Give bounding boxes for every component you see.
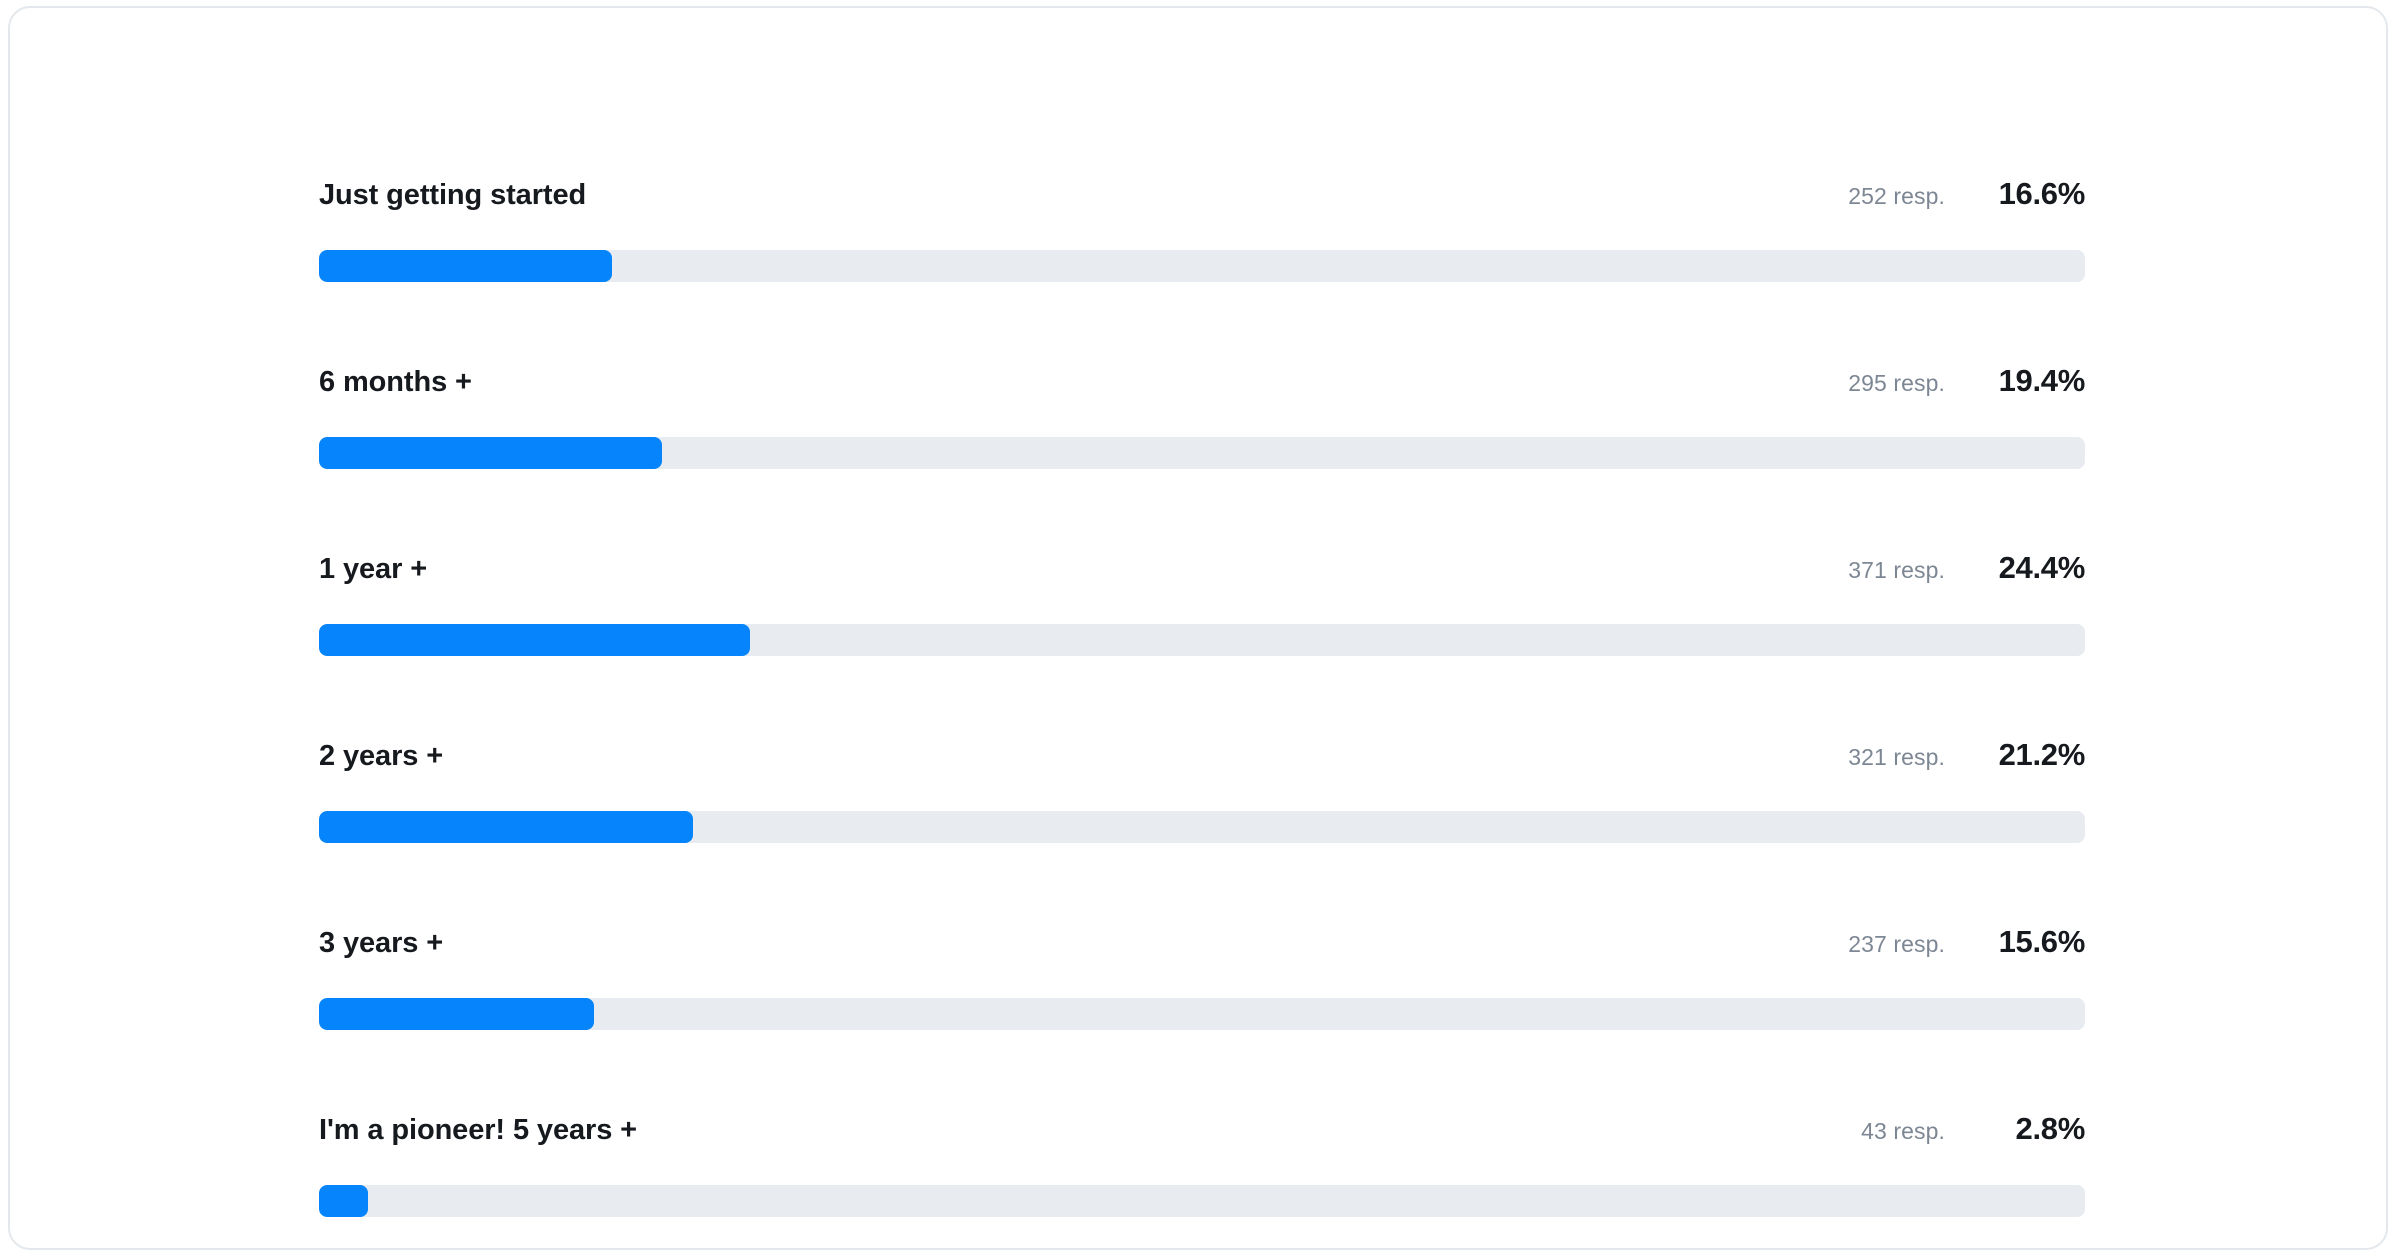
bar-row-percent: 15.6% — [1967, 924, 2085, 960]
bar-track — [319, 437, 2085, 469]
bar-row-responses: 321 resp. — [1848, 744, 1945, 771]
bar-row: 3 years + 237 resp. 15.6% — [319, 924, 2085, 1030]
bar-row-header: 2 years + 321 resp. 21.2% — [319, 737, 2085, 781]
bar-row-label: 6 months + — [319, 366, 472, 399]
bar-row-responses: 237 resp. — [1848, 931, 1945, 958]
bar-row-percent: 21.2% — [1967, 737, 2085, 773]
bar-fill — [319, 1185, 368, 1217]
bar-track — [319, 250, 2085, 282]
bar-track — [319, 1185, 2085, 1217]
bar-fill — [319, 998, 594, 1030]
bar-row-responses: 295 resp. — [1848, 370, 1945, 397]
bar-track — [319, 811, 2085, 843]
bar-row-stats: 237 resp. 15.6% — [1848, 924, 2085, 960]
bar-row-label: 3 years + — [319, 927, 443, 960]
bar-row: 2 years + 321 resp. 21.2% — [319, 737, 2085, 843]
bar-row: I'm a pioneer! 5 years + 43 resp. 2.8% — [319, 1111, 2085, 1217]
bar-row-header: 3 years + 237 resp. 15.6% — [319, 924, 2085, 968]
screenshot-canvas: Just getting started 252 resp. 16.6% 6 m… — [0, 0, 2400, 1256]
bar-row-label: 1 year + — [319, 553, 427, 586]
bar-row-percent: 16.6% — [1967, 176, 2085, 212]
bar-row-stats: 295 resp. 19.4% — [1848, 363, 2085, 399]
bar-row-percent: 24.4% — [1967, 550, 2085, 586]
bar-row-responses: 43 resp. — [1861, 1118, 1945, 1145]
bar-fill — [319, 811, 693, 843]
bar-row-responses: 371 resp. — [1848, 557, 1945, 584]
bar-row-stats: 321 resp. 21.2% — [1848, 737, 2085, 773]
bar-row: 6 months + 295 resp. 19.4% — [319, 363, 2085, 469]
bar-row-label: Just getting started — [319, 179, 586, 212]
bar-row-responses: 252 resp. — [1848, 183, 1945, 210]
bar-track — [319, 998, 2085, 1030]
bar-row-header: 1 year + 371 resp. 24.4% — [319, 550, 2085, 594]
horizontal-bar-chart: Just getting started 252 resp. 16.6% 6 m… — [319, 176, 2085, 1217]
bar-row: Just getting started 252 resp. 16.6% — [319, 176, 2085, 282]
bar-row-percent: 19.4% — [1967, 363, 2085, 399]
bar-row-stats: 252 resp. 16.6% — [1848, 176, 2085, 212]
bar-row-label: I'm a pioneer! 5 years + — [319, 1114, 637, 1147]
bar-row: 1 year + 371 resp. 24.4% — [319, 550, 2085, 656]
bar-row-label: 2 years + — [319, 740, 443, 773]
bar-row-header: 6 months + 295 resp. 19.4% — [319, 363, 2085, 407]
bar-row-percent: 2.8% — [1967, 1111, 2085, 1147]
bar-fill — [319, 624, 750, 656]
bar-fill — [319, 437, 662, 469]
bar-row-header: I'm a pioneer! 5 years + 43 resp. 2.8% — [319, 1111, 2085, 1155]
results-card: Just getting started 252 resp. 16.6% 6 m… — [8, 6, 2388, 1250]
bar-row-stats: 43 resp. 2.8% — [1861, 1111, 2085, 1147]
bar-track — [319, 624, 2085, 656]
bar-row-stats: 371 resp. 24.4% — [1848, 550, 2085, 586]
bar-row-header: Just getting started 252 resp. 16.6% — [319, 176, 2085, 220]
bar-fill — [319, 250, 612, 282]
